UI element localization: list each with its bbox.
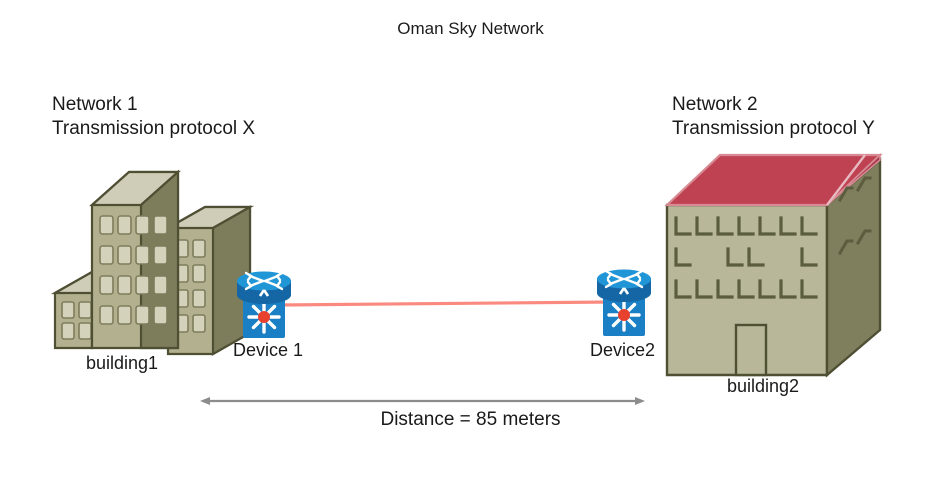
network-diagram-canvas: Oman Sky Network Network 1Transmission p… xyxy=(0,0,941,481)
device-1-icon[interactable] xyxy=(237,272,291,339)
distance-arrow-head-left xyxy=(200,397,210,405)
device-2-label: Device2 xyxy=(590,339,655,362)
device-1-label: Device 1 xyxy=(233,339,303,362)
distance-measure-arrow xyxy=(200,397,645,405)
building-2-graphic xyxy=(667,155,880,375)
device-2-hub-dot xyxy=(618,309,630,321)
distance-arrow-head-right xyxy=(635,397,645,405)
building-2-label: building2 xyxy=(727,375,799,398)
transmission-link-line xyxy=(280,302,612,305)
building-2-door xyxy=(736,325,766,375)
device-2-icon[interactable] xyxy=(597,270,651,337)
building-1-label: building1 xyxy=(86,352,158,375)
device-1-hub-dot xyxy=(258,311,270,323)
building-1-center-tower xyxy=(92,172,178,348)
building-1-graphic xyxy=(55,172,250,354)
distance-label: Distance = 85 meters xyxy=(0,408,941,432)
